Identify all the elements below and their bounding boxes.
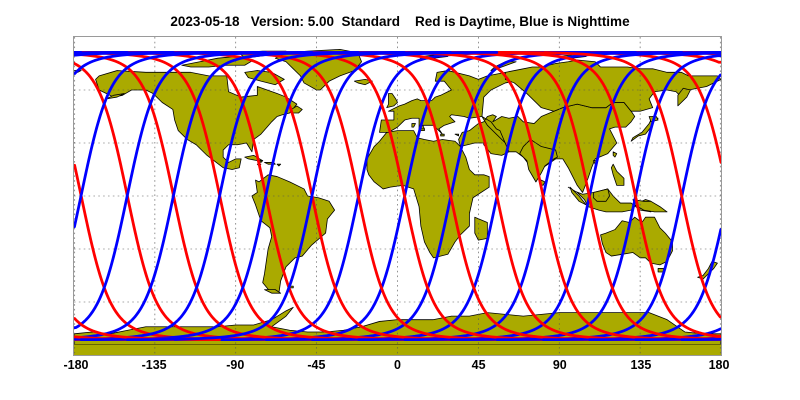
land-cyprus (455, 134, 459, 136)
land-australia (601, 217, 673, 265)
land-uk (387, 94, 398, 108)
land-borneo (593, 189, 609, 201)
land-madagascar (475, 217, 488, 240)
land-crete (441, 134, 445, 136)
x-tick-m180: -180 (63, 358, 88, 372)
ground-track-figure: 2023-05-18 Version: 5.00 Standard Red is… (0, 0, 800, 400)
land-north-america (96, 71, 297, 170)
x-tick-90: 90 (553, 358, 567, 372)
x-tick-45: 45 (472, 358, 486, 372)
x-tick-m90: -90 (226, 358, 244, 372)
map-plot-area (73, 36, 722, 356)
land-puerto-rico (277, 164, 281, 166)
figure-title: 2023-05-18 Version: 5.00 Standard Red is… (0, 14, 800, 29)
x-tick-180: 180 (709, 358, 730, 372)
land-sardinia (412, 124, 416, 128)
land-taiwan (613, 152, 617, 157)
x-tick-0: 0 (394, 358, 401, 372)
land-philippines (611, 164, 624, 185)
x-tick-m45: -45 (307, 358, 325, 372)
land-antarctic-cap (74, 344, 721, 355)
land-cuba (245, 155, 263, 160)
x-tick-m135: -135 (142, 358, 167, 372)
x-tick-135: 135 (630, 358, 651, 372)
land-africa (367, 131, 489, 258)
ground-track-daytime-0 (74, 162, 266, 339)
map-canvas (74, 37, 721, 355)
